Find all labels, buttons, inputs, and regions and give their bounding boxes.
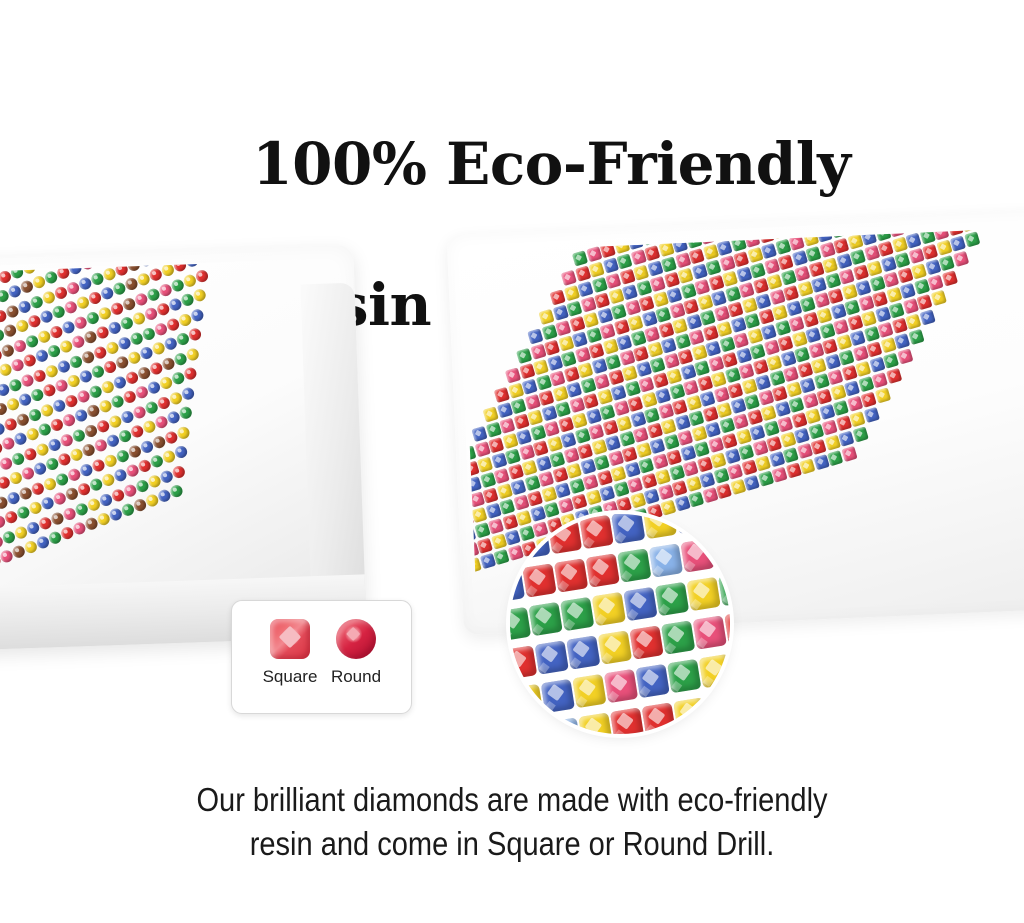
square-gem-shape: [270, 619, 310, 659]
headline-line-1: 100% Eco-Friendly: [252, 130, 850, 198]
magnified-drill: [705, 692, 730, 726]
magnified-drill: [611, 514, 645, 544]
magnified-drill: [542, 514, 576, 516]
drill: [916, 294, 932, 310]
drill: [883, 353, 899, 369]
round-drill-tray: [0, 245, 367, 652]
drill: [169, 483, 185, 499]
magnified-drill: [528, 602, 562, 636]
magnified-drill: [642, 702, 676, 734]
round-gem-shape: [336, 619, 376, 659]
product-infographic: 100% Eco-Friendly Resin Diamonds Square …: [0, 0, 1024, 923]
magnified-drill: [598, 630, 632, 664]
magnified-drill: [547, 717, 581, 734]
drill: [185, 346, 201, 362]
drill: [950, 236, 966, 252]
drill: [180, 385, 196, 401]
magnified-drill: [510, 645, 537, 679]
magnifier-content: [510, 514, 730, 734]
drill: [190, 307, 206, 323]
drill: [863, 407, 879, 423]
drill-type-legend-card: Square Round: [231, 600, 412, 714]
magnified-drill: [604, 669, 638, 703]
magnified-drill: [649, 543, 683, 577]
magnified-drill: [706, 514, 730, 529]
magnified-drill: [592, 592, 626, 626]
magnified-drill: [674, 514, 708, 534]
magnified-drill: [586, 553, 620, 587]
magnified-drill: [693, 615, 727, 649]
drill: [183, 366, 199, 382]
magnified-drill: [643, 514, 677, 539]
magnified-drill: [699, 654, 730, 688]
magnified-drill: [712, 533, 730, 567]
round-gem-icon: [328, 615, 384, 663]
magnified-drill: [522, 563, 556, 597]
magnified-drill: [510, 514, 513, 526]
drill: [894, 333, 910, 349]
drill: [861, 392, 877, 408]
drill: [919, 309, 935, 325]
magnified-drill: [566, 635, 600, 669]
magnified-drill: [572, 674, 606, 708]
drill: [827, 450, 843, 466]
drill: [886, 368, 902, 384]
drill: [841, 446, 857, 462]
drill: [192, 287, 208, 303]
magnified-drill: [541, 679, 575, 713]
square-drill-magnifier: [510, 514, 730, 734]
magnified-drill: [661, 620, 695, 654]
drill: [905, 314, 921, 330]
magnified-drill: [711, 731, 730, 734]
drill: [939, 255, 955, 271]
drill: [941, 270, 957, 286]
caption-line-2: resin and come in Square or Round Drill.: [61, 822, 962, 866]
magnified-drill: [510, 684, 543, 718]
magnified-drill: [579, 515, 613, 549]
magnified-drill: [673, 697, 707, 731]
magnified-drill: [617, 548, 651, 582]
magnified-drill: [535, 640, 569, 674]
drill: [187, 327, 203, 343]
magnified-drill: [623, 587, 657, 621]
magnified-drill: [680, 538, 714, 572]
magnified-drill: [515, 722, 549, 734]
square-label: Square: [254, 667, 326, 687]
drill: [897, 348, 913, 364]
magnified-drill: [610, 707, 644, 734]
magnified-drill: [510, 514, 544, 521]
drill: [953, 251, 969, 267]
drill: [928, 275, 944, 291]
magnified-drill: [554, 558, 588, 592]
magnified-drill: [578, 712, 612, 734]
product-description: Our brilliant diamonds are made with eco…: [61, 778, 962, 865]
magnified-drill: [667, 659, 701, 693]
square-gem-icon: [262, 615, 318, 663]
drill: [171, 464, 187, 480]
drill: [178, 405, 194, 421]
caption-line-1: Our brilliant diamonds are made with eco…: [196, 781, 827, 818]
round-drill-well: [0, 261, 304, 586]
drill: [852, 427, 868, 443]
magnified-drill: [655, 582, 689, 616]
magnified-drill: [548, 520, 582, 554]
drill: [849, 411, 865, 427]
magnified-drill: [516, 525, 550, 559]
magnified-drill: [635, 664, 669, 698]
magnified-drill: [629, 625, 663, 659]
drill: [872, 372, 888, 388]
drill: [930, 290, 946, 306]
drill: [194, 268, 210, 284]
magnified-drill: [686, 577, 720, 611]
magnified-drill: [560, 597, 594, 631]
drill: [908, 329, 924, 345]
round-label: Round: [320, 667, 392, 687]
drill: [874, 388, 890, 404]
drill: [173, 444, 189, 460]
drill: [838, 431, 854, 447]
drill: [176, 425, 192, 441]
drill: [964, 231, 980, 247]
magnified-drill: [510, 607, 531, 641]
